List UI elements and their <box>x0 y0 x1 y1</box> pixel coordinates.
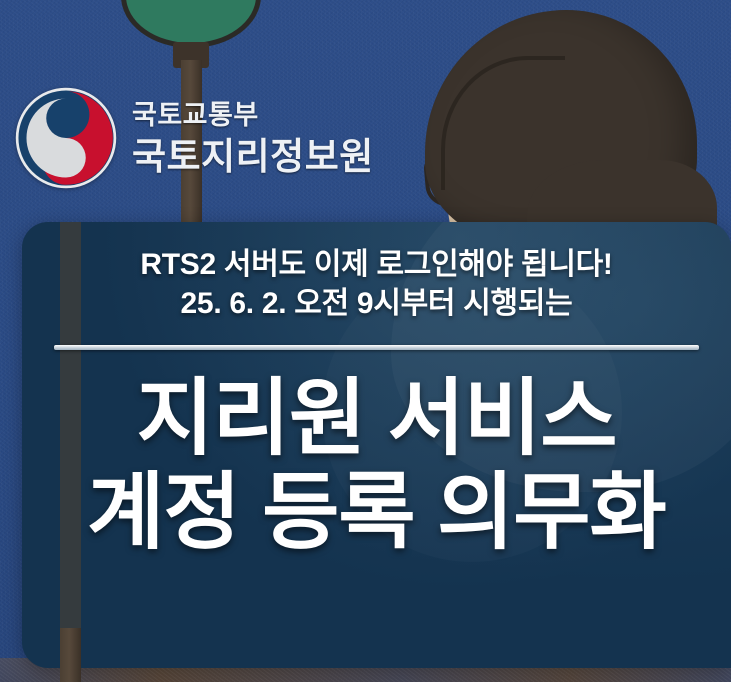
horizontal-divider <box>54 345 699 350</box>
lamp-shade <box>121 0 261 48</box>
announcement-subheading: RTS2 서버도 이제 로그인해야 됩니다! 25. 6. 2. 오전 9시부터… <box>22 245 731 323</box>
subheading-line-1: RTS2 서버도 이제 로그인해야 됩니다! <box>22 245 731 284</box>
announcement-content: RTS2 서버도 이제 로그인해야 됩니다! 25. 6. 2. 오전 9시부터… <box>22 222 731 559</box>
subheading-line-2: 25. 6. 2. 오전 9시부터 시행되는 <box>22 284 731 323</box>
agency-logo-lockup: 국토교통부 국토지리정보원 <box>14 86 374 190</box>
korean-government-taegeuk-emblem-icon <box>14 86 118 190</box>
announcement-panel: RTS2 서버도 이제 로그인해야 됩니다! 25. 6. 2. 오전 9시부터… <box>22 222 731 668</box>
poster-canvas: 국토교통부 국토지리정보원 RTS2 서버도 이제 로그인해야 됩니다! 25.… <box>0 0 731 682</box>
headline-line-2: 계정 등록 의무화 <box>22 466 731 558</box>
person-hair-sweep <box>441 56 565 190</box>
agency-logo-text: 국토교통부 국토지리정보원 <box>132 102 374 175</box>
ministry-name: 국토교통부 <box>132 102 374 129</box>
headline-line-1: 지리원 서비스 <box>22 372 731 464</box>
agency-name: 국토지리정보원 <box>132 138 374 175</box>
lamp-pole-foreground <box>60 628 81 682</box>
announcement-headline: 지리원 서비스 계정 등록 의무화 <box>22 372 731 559</box>
